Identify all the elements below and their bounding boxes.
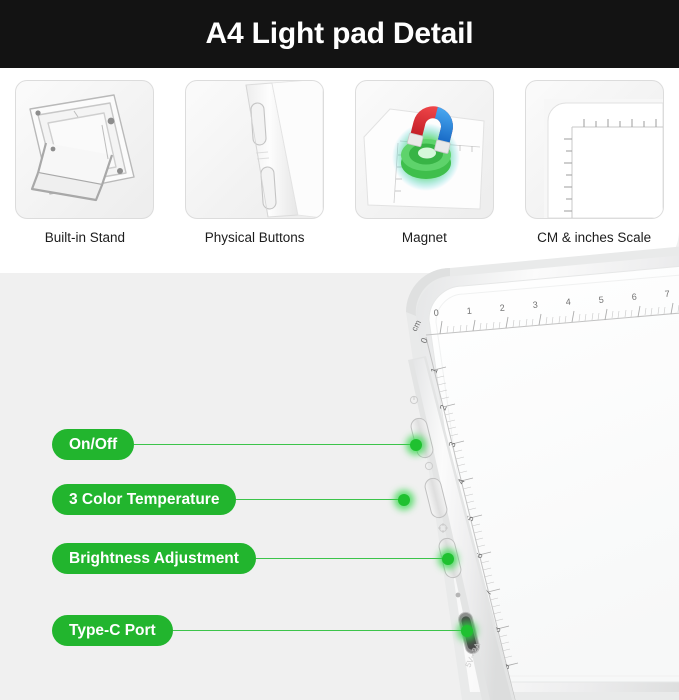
callout-label: 3 Color Temperature <box>69 492 219 508</box>
svg-text:2: 2 <box>499 303 505 313</box>
svg-text:3: 3 <box>532 300 538 310</box>
header-banner: A4 Light pad Detail <box>0 0 679 68</box>
callout-endpoint-dot <box>461 625 473 637</box>
callout-label: Brightness Adjustment <box>69 551 239 567</box>
svg-text:1: 1 <box>466 306 472 316</box>
feature-thumbnail-image <box>355 80 494 219</box>
svg-text:4: 4 <box>565 297 571 307</box>
callout-label: Type-C Port <box>69 623 156 639</box>
feature-thumbnail-strip: Built-in Stand <box>0 80 679 245</box>
callout-type-c-port[interactable]: Type-C Port <box>52 615 473 646</box>
callout-pill[interactable]: 3 Color Temperature <box>52 484 236 515</box>
callout-leader-line <box>236 499 404 501</box>
svg-text:6: 6 <box>631 292 637 302</box>
product-detail-page: A4 Light pad Detail <box>0 0 679 679</box>
page-title: A4 Light pad Detail <box>206 19 474 49</box>
magnet-icon <box>356 81 493 218</box>
feature-thumbnail-image <box>525 80 664 219</box>
callout-pill[interactable]: Type-C Port <box>52 615 173 646</box>
feature-card-built-in-stand[interactable]: Built-in Stand <box>0 80 170 245</box>
ruler-scale-icon <box>526 81 663 218</box>
feature-card-physical-buttons[interactable]: Physical Buttons <box>170 80 340 245</box>
side-buttons-icon <box>186 81 323 218</box>
callout-brightness[interactable]: Brightness Adjustment <box>52 543 454 574</box>
callout-leader-line <box>134 444 416 446</box>
feature-card-scale[interactable]: CM & inches Scale <box>509 80 679 245</box>
callout-endpoint-dot <box>442 553 454 565</box>
callout-endpoint-dot <box>398 494 410 506</box>
svg-text:0: 0 <box>433 308 439 318</box>
feature-card-magnet[interactable]: Magnet <box>340 80 510 245</box>
callout-leader-line <box>256 558 448 560</box>
svg-text:7: 7 <box>664 289 670 299</box>
feature-card-label: Physical Buttons <box>205 230 305 245</box>
callout-endpoint-dot <box>410 439 422 451</box>
feature-thumbnail-image <box>185 80 324 219</box>
svg-text:5: 5 <box>598 295 604 305</box>
callout-pill[interactable]: Brightness Adjustment <box>52 543 256 574</box>
feature-card-label: Built-in Stand <box>45 230 125 245</box>
callout-pill[interactable]: On/Off <box>52 429 134 460</box>
callout-label: On/Off <box>69 437 117 453</box>
callout-on-off[interactable]: On/Off <box>52 429 422 460</box>
feature-thumbnail-image <box>15 80 154 219</box>
callout-leader-line <box>173 630 467 632</box>
callout-color-temperature[interactable]: 3 Color Temperature <box>52 484 410 515</box>
tablet-stand-icon <box>16 81 153 218</box>
